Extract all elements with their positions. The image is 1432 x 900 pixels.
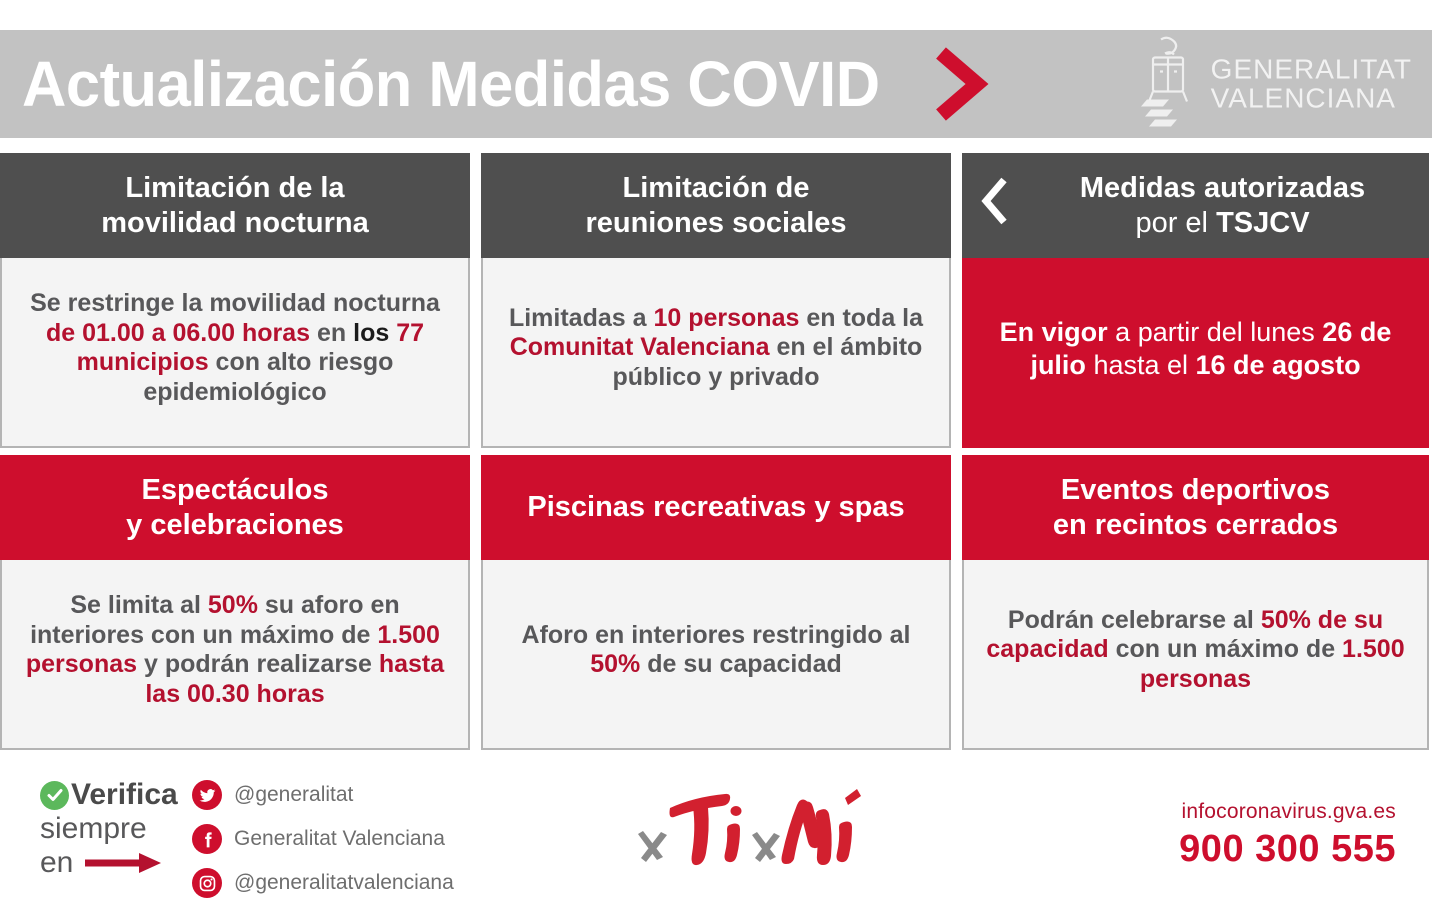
page-footer: Verifica siempre en: [0, 760, 1432, 900]
page-header: Actualización Medidas COVID: [0, 30, 1432, 138]
generalitat-emblem-icon: [1141, 34, 1199, 135]
card-header: Piscinas recreativas y spas: [481, 455, 951, 560]
phone-number: 900 300 555: [1179, 828, 1396, 871]
verify-line-3: en: [40, 846, 73, 880]
card-eventos-deportivos: Eventos deportivos en recintos cerrados …: [962, 455, 1429, 750]
card-title-line-2: reuniones sociales: [585, 206, 846, 240]
card-header: Limitación de reuniones sociales: [481, 153, 951, 258]
brand-line-2: VALENCIANA: [1211, 85, 1412, 113]
card-medidas-tsjcv: Medidas autorizadas por el TSJCV En vigo…: [962, 153, 1429, 448]
social-link-instagram[interactable]: @generalitatvalenciana: [192, 868, 454, 898]
card-title-line-2: en recintos cerrados: [1053, 508, 1338, 542]
measures-grid: Limitación de la movilidad nocturna Se r…: [0, 153, 1432, 750]
card-title-line-2-thin: por el: [1135, 207, 1216, 239]
card-body: Se limita al 50% su aforo en interiores …: [0, 560, 470, 750]
card-espectaculos-celebraciones: Espectáculos y celebraciones Se limita a…: [0, 455, 470, 750]
card-title-line-2: y celebraciones: [126, 508, 344, 542]
infographic-page: Actualización Medidas COVID: [0, 0, 1432, 900]
social-link-twitter[interactable]: @generalitat: [192, 780, 454, 810]
card-reuniones-sociales: Limitación de reuniones sociales Limitad…: [481, 153, 951, 448]
facebook-icon: [192, 824, 222, 854]
card-header: Eventos deportivos en recintos cerrados: [962, 455, 1429, 560]
social-label: @generalitat: [234, 783, 353, 807]
card-title-line-1: Espectáculos: [126, 473, 344, 507]
page-title: Actualización Medidas COVID: [22, 52, 880, 116]
card-title-line-2-bold: TSJCV: [1216, 207, 1309, 239]
card-header: Limitación de la movilidad nocturna: [0, 153, 470, 258]
card-text: Podrán celebrarse al 50% de su capacidad…: [976, 606, 1415, 695]
twitter-icon: [192, 780, 222, 810]
card-text: Se limita al 50% su aforo en interiores …: [14, 591, 456, 709]
verify-line-2: siempre: [40, 812, 178, 846]
social-label: @generalitatvalenciana: [234, 871, 454, 895]
card-text: En vigor a partir del lunes 26 de julio …: [974, 316, 1417, 382]
xtiximi-logo-icon: [628, 782, 878, 877]
social-links: @generalitat Generalitat Valenciana: [192, 780, 454, 898]
social-label: Generalitat Valenciana: [234, 827, 445, 851]
check-circle-icon: [40, 781, 69, 810]
card-text: Se restringe la movilidad nocturna de 01…: [14, 289, 456, 407]
contact-block: infocoronavirus.gva.es 900 300 555: [1179, 800, 1396, 871]
card-title-line-1: Limitación de la: [101, 171, 368, 205]
verify-word: Verifica: [71, 778, 178, 812]
card-body: Se restringe la movilidad nocturna de 01…: [0, 258, 470, 448]
card-movilidad-nocturna: Limitación de la movilidad nocturna Se r…: [0, 153, 470, 448]
card-title-line-1: Eventos deportivos: [1053, 473, 1338, 507]
arrow-right-icon: [83, 850, 163, 876]
brand-lockup: GENERALITAT VALENCIANA: [1141, 34, 1412, 135]
card-header: Medidas autorizadas por el TSJCV: [962, 153, 1429, 258]
card-text: Aforo en interiores restringido al 50% d…: [495, 621, 937, 680]
card-header: Espectáculos y celebraciones: [0, 455, 470, 560]
card-text: Limitadas a 10 personas en toda la Comun…: [495, 304, 937, 393]
card-title-line-1: Limitación de: [585, 171, 846, 205]
card-body: En vigor a partir del lunes 26 de julio …: [962, 258, 1429, 448]
card-body: Podrán celebrarse al 50% de su capacidad…: [962, 560, 1429, 750]
card-body: Aforo en interiores restringido al 50% d…: [481, 560, 951, 750]
chevron-left-icon: [978, 175, 1012, 235]
card-piscinas-spas: Piscinas recreativas y spas Aforo en int…: [481, 455, 951, 750]
chevron-right-icon: [929, 45, 991, 123]
instagram-icon: [192, 868, 222, 898]
website-url[interactable]: infocoronavirus.gva.es: [1179, 800, 1396, 824]
card-title-line-1: Medidas autorizadas: [1030, 171, 1415, 205]
verify-block: Verifica siempre en: [40, 778, 178, 881]
brand-line-1: GENERALITAT: [1211, 56, 1412, 84]
card-title-line-1: Piscinas recreativas y spas: [527, 490, 904, 524]
card-body: Limitadas a 10 personas en toda la Comun…: [481, 258, 951, 448]
social-link-facebook[interactable]: Generalitat Valenciana: [192, 824, 454, 854]
card-title-line-2: movilidad nocturna: [101, 206, 368, 240]
